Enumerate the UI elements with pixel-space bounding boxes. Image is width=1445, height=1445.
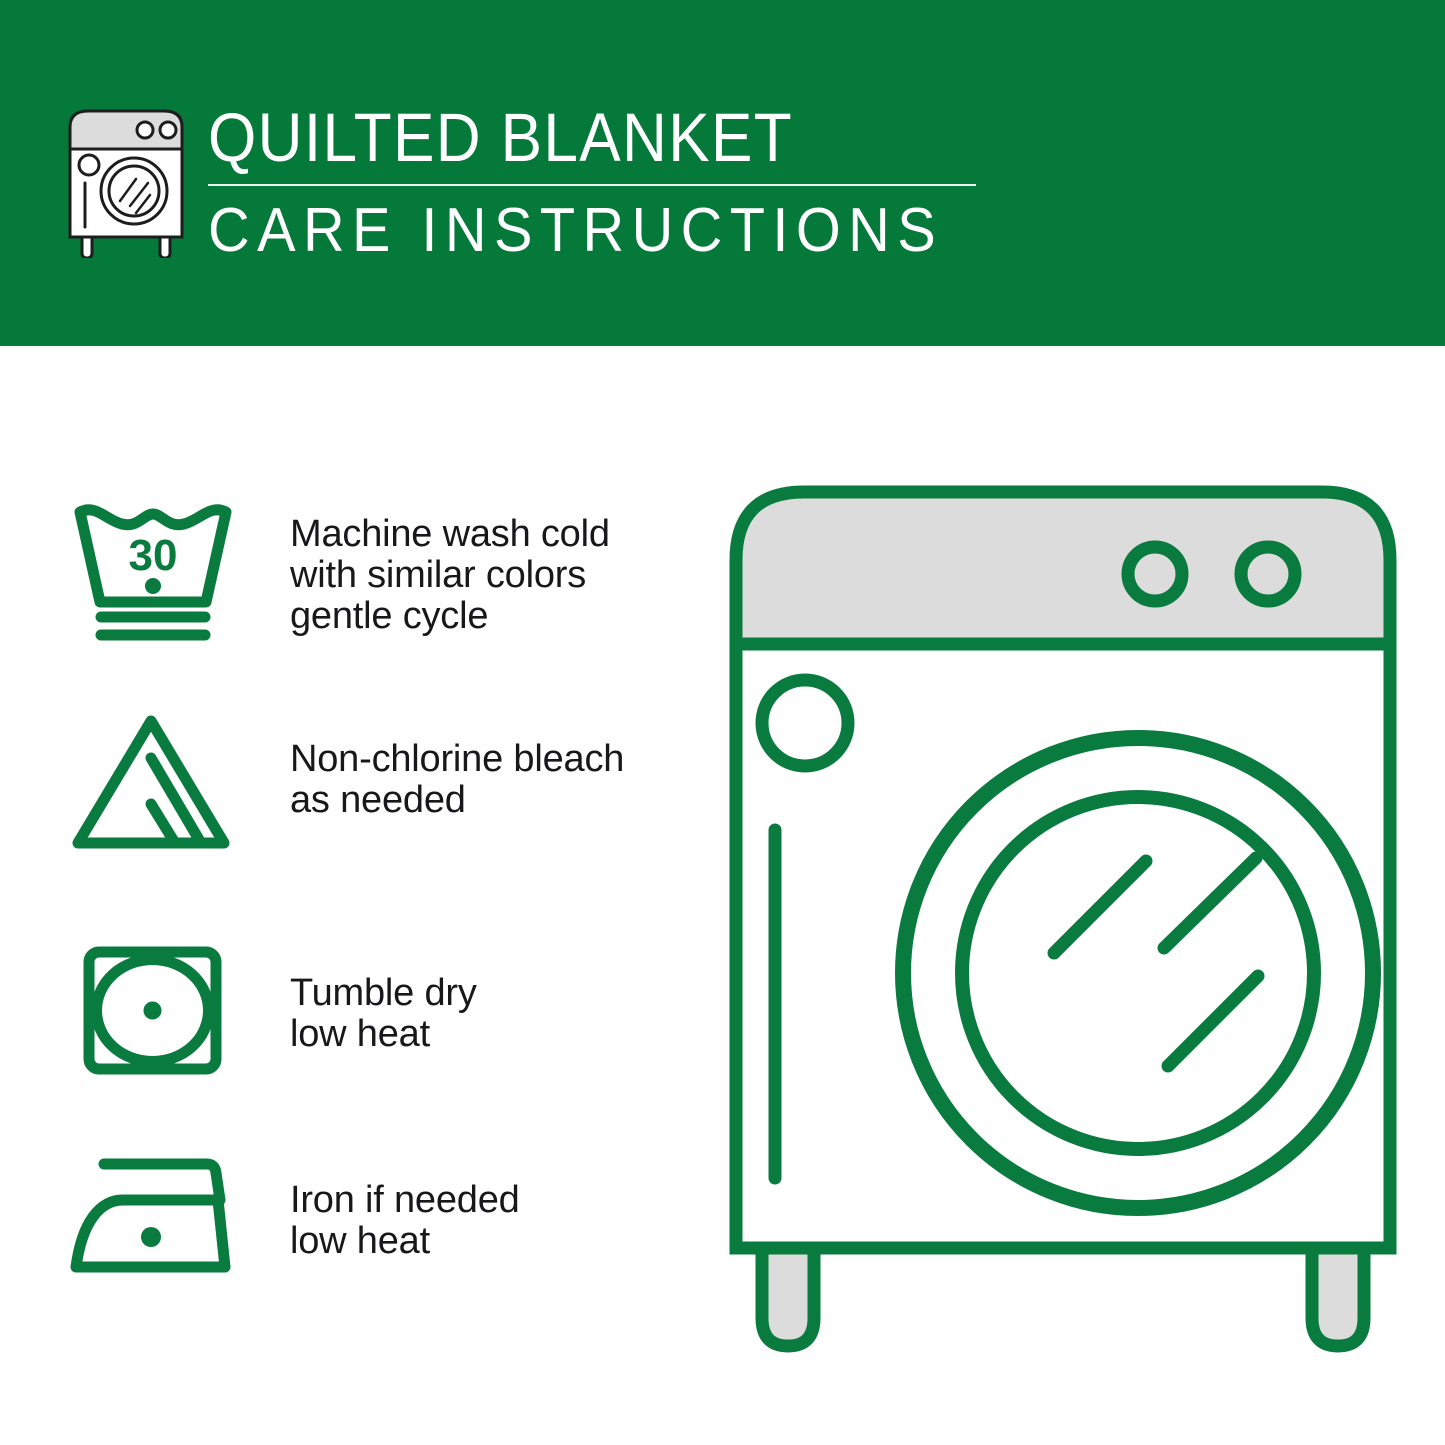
care-label-tumble-dry: Tumble dry low heat: [290, 973, 477, 1055]
header-text-block: QUILTED BLANKET CARE INSTRUCTIONS: [208, 100, 998, 266]
wash-temperature-value: 30: [129, 531, 178, 580]
tumble-dry-low-icon: [80, 943, 225, 1078]
page-subtitle: CARE INSTRUCTIONS: [208, 196, 943, 266]
front-load-washing-machine-illustration: [718, 478, 1408, 1353]
iron-low-heat-icon: [68, 1154, 240, 1280]
non-chlorine-bleach-triangle-icon: [68, 711, 234, 853]
title-divider: [208, 184, 976, 186]
care-label-wash: Machine wash cold with similar colors ge…: [290, 514, 610, 637]
wash-tub-30-gentle-icon: 30: [70, 498, 236, 648]
care-label-bleach: Non-chlorine bleach as needed: [290, 739, 624, 821]
care-label-iron: Iron if needed low heat: [290, 1180, 520, 1262]
machine-knob-right: [1241, 547, 1295, 601]
washing-machine-logo-icon: [62, 103, 190, 258]
care-instructions-page: QUILTED BLANKET CARE INSTRUCTIONS 30 Mac…: [0, 0, 1445, 1445]
header-band: QUILTED BLANKET CARE INSTRUCTIONS: [0, 0, 1445, 346]
page-title: QUILTED BLANKET: [208, 100, 919, 176]
machine-knob-left: [1128, 547, 1182, 601]
